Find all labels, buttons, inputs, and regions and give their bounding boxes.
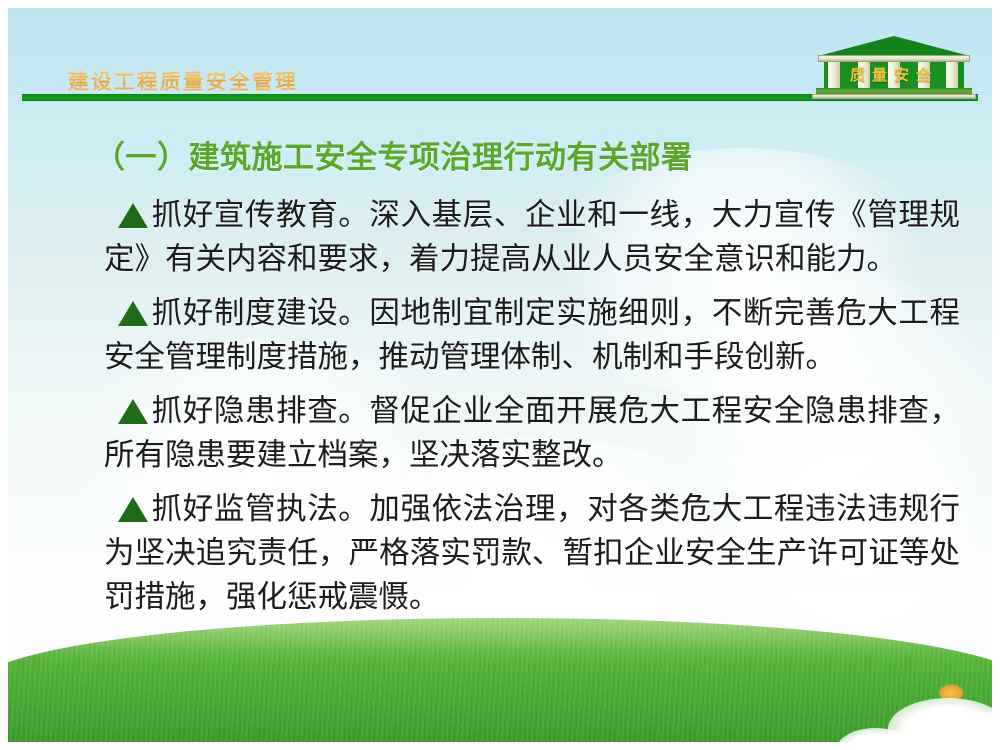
bullet-item: 抓好监管执法。加强依法治理，对各类危大工程违法违规行为坚决追究责任，严格落实罚款… xyxy=(104,488,960,620)
bullet-list: 抓好宣传教育。深入基层、企业和一线，大力宣传《管理规定》有关内容和要求，着力提高… xyxy=(104,194,960,630)
slide-frame: 建设工程质量安全管理 质量安全 （一）建筑施工安全专项治理行动有关部署 抓 xyxy=(0,0,1000,750)
bullet-text: 抓好监管执法。加强依法治理，对各类危大工程违法违规行为坚决追究责任，严格落实罚款… xyxy=(104,492,960,615)
meadow-decoration xyxy=(8,618,992,742)
temple-architrave xyxy=(818,55,970,62)
temple-base-bottom xyxy=(812,94,976,99)
bullet-item: 抓好宣传教育。深入基层、企业和一线，大力宣传《管理规定》有关内容和要求，着力提高… xyxy=(104,194,960,282)
slide-title: （一）建筑施工安全专项治理行动有关部署 xyxy=(94,132,693,177)
bullet-text: 抓好宣传教育。深入基层、企业和一线，大力宣传《管理规定》有关内容和要求，着力提高… xyxy=(104,198,960,277)
logo-label: 质量安全 xyxy=(824,66,964,84)
temple-building-icon: 质量安全 xyxy=(808,36,980,100)
bullet-item: 抓好隐患排查。督促企业全面开展危大工程安全隐患排查，所有隐患要建立档案，坚决落实… xyxy=(104,390,960,478)
bullet-text: 抓好制度建设。因地制宜制定实施细则，不断完善危大工程安全管理制度措施，推动管理体… xyxy=(104,296,960,375)
slide-canvas: 建设工程质量安全管理 质量安全 （一）建筑施工安全专项治理行动有关部署 抓 xyxy=(8,8,992,742)
meadow-sheen xyxy=(8,618,992,660)
bullet-text: 抓好隐患排查。督促企业全面开展危大工程安全隐患排查，所有隐患要建立档案，坚决落实… xyxy=(104,394,960,473)
triangle-bullet-icon xyxy=(118,399,148,424)
slide-header: 建设工程质量安全管理 质量安全 xyxy=(8,8,992,103)
triangle-bullet-icon xyxy=(118,203,148,228)
temple-roof-icon xyxy=(822,36,966,55)
bullet-item: 抓好制度建设。因地制宜制定实施细则，不断完善危大工程安全管理制度措施，推动管理体… xyxy=(104,292,960,380)
triangle-bullet-icon xyxy=(118,497,148,522)
header-title: 建设工程质量安全管理 xyxy=(68,65,298,95)
triangle-bullet-icon xyxy=(118,301,148,326)
